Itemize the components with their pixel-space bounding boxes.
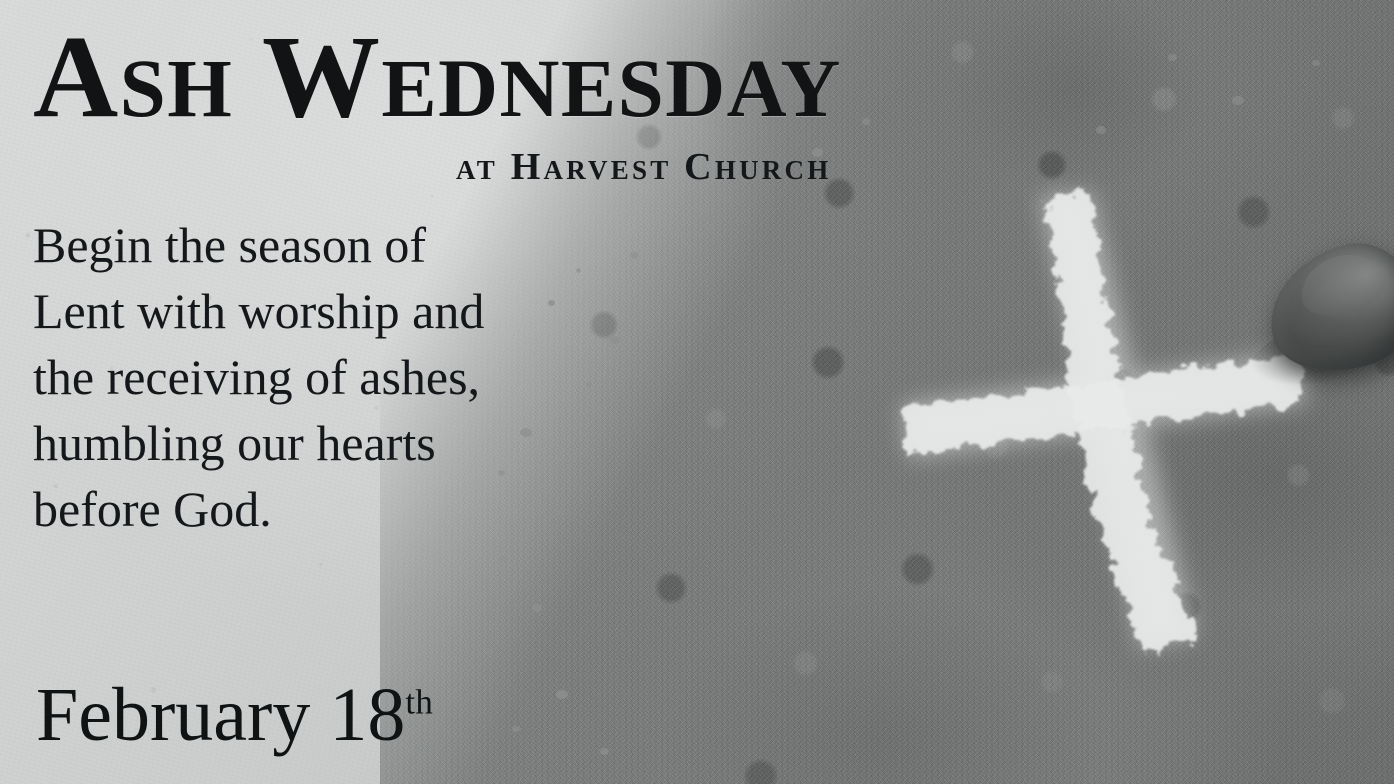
page-title: Ash Wednesday [33,18,842,136]
poster-text: Ash Wednesday at Harvest Church Begin th… [0,0,1394,784]
ordinal-suffix: th [405,683,433,722]
ash-wednesday-poster: Ash Wednesday at Harvest Church Begin th… [0,0,1394,784]
subtitle-church-name: at Harvest Church [456,148,832,186]
event-datetime: February 18th at 6:00 p.m. [36,556,433,784]
body-description: Begin the season of Lent with worship an… [33,212,484,542]
event-date: February 18 [36,673,405,757]
event-date-line: February 18th [36,662,433,768]
